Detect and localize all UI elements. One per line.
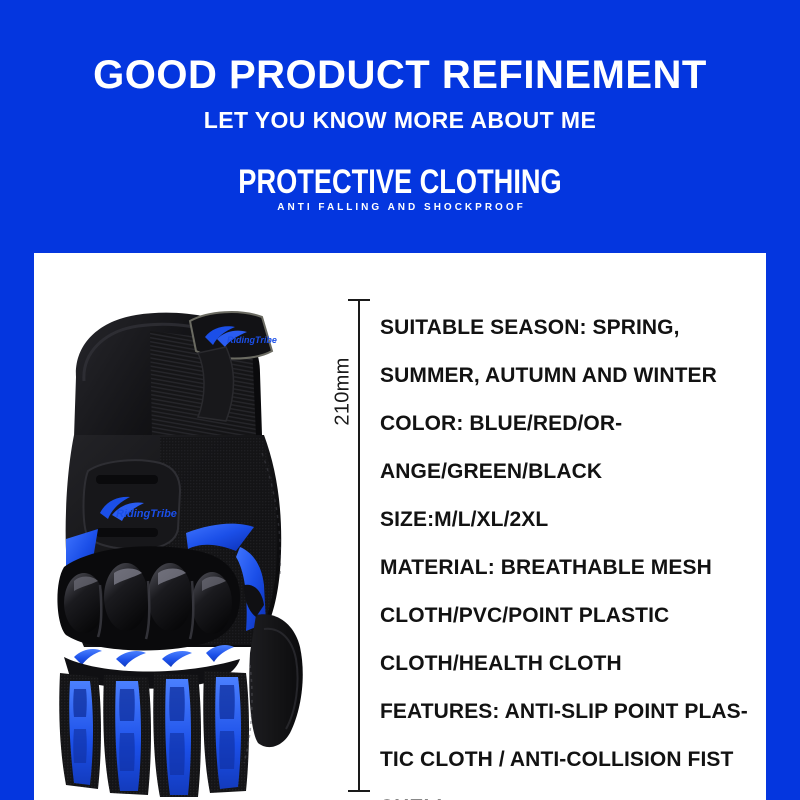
- logo-patch: RidingTribe: [84, 460, 181, 549]
- glove-fingers: [59, 671, 249, 797]
- spec-line: CLOTH/PVC/POINT PLASTIC: [380, 592, 750, 640]
- header-banner: GOOD PRODUCT REFINEMENT LET YOU KNOW MOR…: [0, 0, 800, 253]
- band-title: PROTECTIVE CLOTHING: [80, 163, 720, 201]
- dimension-line-stem: [358, 299, 360, 792]
- page-subtitle: LET YOU KNOW MORE ABOUT ME: [0, 106, 800, 134]
- band-tagline: ANTI FALLING AND SHOCKPROOF: [0, 201, 800, 215]
- spec-line: FEATURES: ANTI-SLIP POINT PLAS-: [380, 688, 750, 736]
- spec-line: MATERIAL: BREATHABLE MESH: [380, 544, 750, 592]
- dimension-cap-bottom: [348, 790, 370, 792]
- knuckle-armor: [57, 546, 240, 688]
- svg-text:RidingTribe: RidingTribe: [227, 335, 277, 345]
- spec-line: SHELL: [380, 784, 750, 800]
- page-title: GOOD PRODUCT REFINEMENT: [0, 52, 800, 98]
- spec-line: SIZE:M/L/XL/2XL: [380, 496, 750, 544]
- spec-list: SUITABLE SEASON: SPRING, SUMMER, AUTUMN …: [380, 304, 750, 800]
- spec-line: ANGE/GREEN/BLACK: [380, 448, 750, 496]
- product-image-glove: RidingTribe RidingTribe: [40, 285, 320, 797]
- spec-line: CLOTH/HEALTH CLOTH: [380, 640, 750, 688]
- spec-line: TIC CLOTH / ANTI-COLLISION FIST: [380, 736, 750, 784]
- spec-line: SUMMER, AUTUMN AND WINTER: [380, 352, 750, 400]
- dimension-label: 210mm: [332, 357, 355, 427]
- svg-text:RidingTribe: RidingTribe: [116, 508, 177, 520]
- spec-line: SUITABLE SEASON: SPRING,: [380, 304, 750, 352]
- spec-line: COLOR: BLUE/RED/OR-: [380, 400, 750, 448]
- product-infographic: GOOD PRODUCT REFINEMENT LET YOU KNOW MOR…: [0, 0, 800, 800]
